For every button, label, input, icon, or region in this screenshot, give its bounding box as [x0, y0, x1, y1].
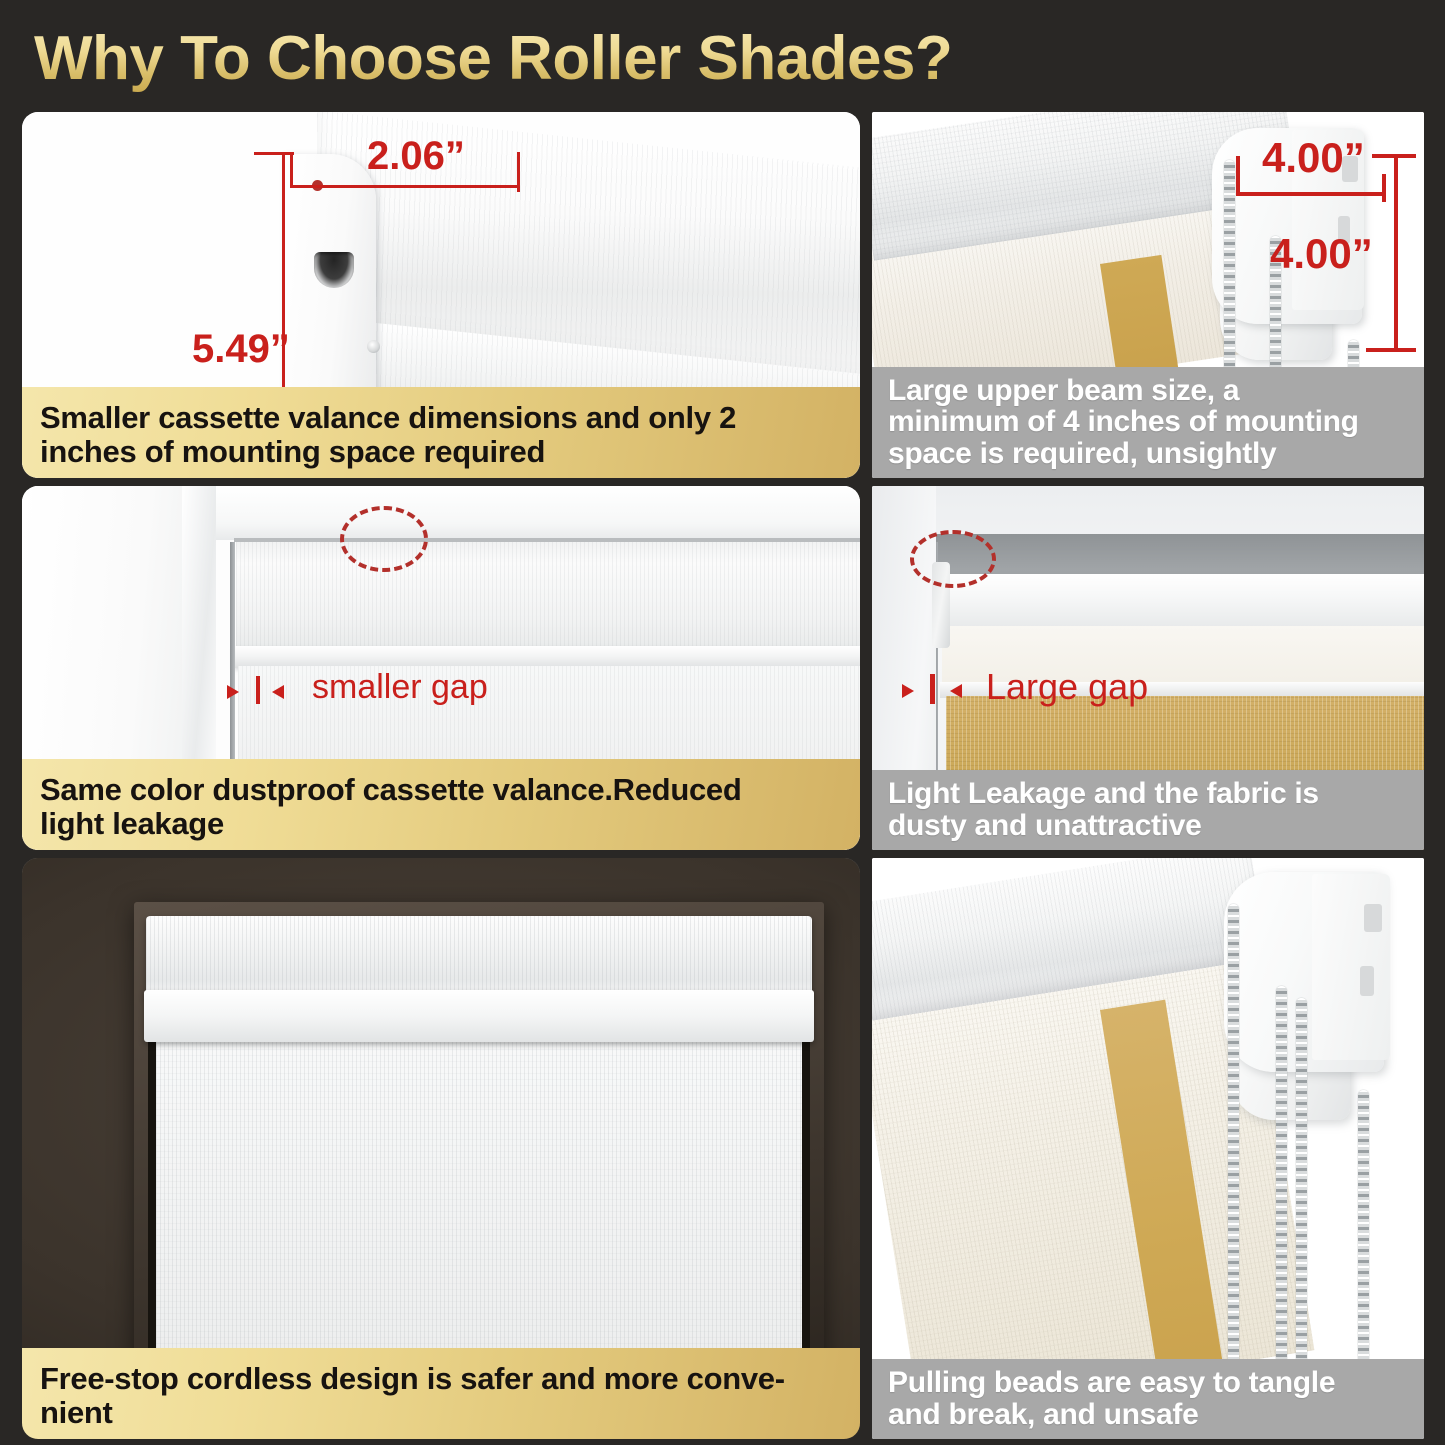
cassette-valance: [236, 538, 860, 653]
bracket-notch-upper: [1364, 904, 1382, 932]
caption-line: Pulling beads are easy to tangle: [888, 1367, 1410, 1399]
caption-line: space is required, unsightly: [888, 438, 1410, 470]
caption-smaller-gap: Same color dustproof cassette valance.Re…: [22, 759, 860, 850]
beam-width-dimension-label: 4.00”: [1262, 134, 1365, 182]
gap-arrow-right: [272, 685, 284, 699]
shade-fabric: [156, 1036, 802, 1386]
caption-cordless-design: Free-stop cordless design is safer and m…: [22, 1348, 860, 1439]
caption-line: light leakage: [40, 807, 842, 840]
width-dimension-label: 2.06”: [367, 134, 465, 179]
height-dimension-tick-top: [254, 152, 294, 155]
caption-line: Same color dustproof cassette valance.Re…: [40, 773, 842, 806]
caption-line: minimum of 4 inches of mounting: [888, 406, 1410, 438]
caption-line: Light Leakage and the fabric is: [888, 778, 1410, 810]
gap-marker-bar: [930, 674, 935, 704]
caption-line: inches of mounting space required: [40, 435, 842, 468]
bead-chain-middle-2: [1296, 998, 1307, 1386]
panel-cordless-design: Free-stop cordless design is safer and m…: [22, 858, 860, 1439]
caption-pulling-beads: Pulling beads are easy to tangle and bre…: [872, 1359, 1424, 1439]
caption-line: dusty and unattractive: [888, 810, 1410, 842]
caption-line: and break, and unsafe: [888, 1399, 1410, 1431]
beam-height-dimension-line: [1394, 154, 1398, 350]
caption-line: Free-stop cordless design is safer and m…: [40, 1362, 842, 1395]
cassette-valance-lip: [144, 990, 814, 1042]
beam-height-tick-top: [1372, 154, 1416, 158]
beam-height-dimension-label: 4.00”: [1270, 230, 1373, 278]
bead-chain-middle: [1276, 986, 1287, 1386]
photo-pulling-beads: [872, 858, 1424, 1439]
panel-pulling-beads: Pulling beads are easy to tangle and bre…: [872, 858, 1424, 1439]
page-title: Why To Choose Roller Shades?: [34, 18, 1034, 98]
caption-large-gap: Light Leakage and the fabric is dusty an…: [872, 770, 1424, 850]
width-dimension-tick-right: [517, 152, 520, 192]
window-head-trim: [204, 486, 860, 540]
bead-chain-right: [1358, 1090, 1369, 1386]
height-dimension-label: 5.49”: [192, 327, 290, 372]
cassette-valance: [146, 916, 812, 998]
page-title-text: Why To Choose Roller Shades?: [34, 23, 952, 94]
bracket-notch-lower: [1360, 966, 1374, 996]
panel-cassette-dimensions: 2.06” 5.49” Smaller cassette valance dim…: [22, 112, 860, 478]
comparison-grid: 2.06” 5.49” Smaller cassette valance dim…: [0, 106, 1445, 1445]
gap-arrow-left: [902, 684, 914, 698]
panel-large-gap: Large gap Light Leakage and the fabric i…: [872, 486, 1424, 850]
beam-width-tick-right: [1382, 174, 1386, 202]
width-dimension-line: [290, 185, 520, 188]
bead-chain-left: [1228, 904, 1239, 1384]
infographic-page: Why To Choose Roller Shades? 2.06”: [0, 0, 1445, 1445]
gap-label: smaller gap: [312, 668, 488, 707]
panel-smaller-gap: smaller gap Same color dustproof cassett…: [22, 486, 860, 850]
gap-label: Large gap: [986, 666, 1148, 708]
beam-width-dimension-line: [1238, 192, 1386, 196]
panel-large-beam: 4.00” 4.00” Large upper beam size, a min…: [872, 112, 1424, 478]
caption-cassette-dimensions: Smaller cassette valance dimensions and …: [22, 387, 860, 478]
valance-screw: [367, 340, 380, 353]
gap-marker-bar: [256, 676, 260, 704]
bracket-mounting-plate: [1312, 874, 1390, 1060]
gap-highlight-ellipse: [910, 530, 996, 588]
caption-large-beam: Large upper beam size, a minimum of 4 in…: [872, 367, 1424, 478]
gap-highlight-ellipse: [340, 506, 428, 572]
width-dimension-tick-left: [290, 152, 293, 188]
beam-width-tick-left: [1236, 156, 1240, 196]
caption-line: nient: [40, 1396, 842, 1429]
gap-arrow-left: [227, 685, 239, 699]
caption-line: Large upper beam size, a: [888, 375, 1410, 407]
beam-height-tick-bottom: [1366, 348, 1416, 352]
cassette-rail: [234, 646, 860, 668]
caption-line: Smaller cassette valance dimensions and …: [40, 401, 842, 434]
gap-arrow-right: [950, 684, 962, 698]
cassette-top-edge: [234, 538, 860, 542]
